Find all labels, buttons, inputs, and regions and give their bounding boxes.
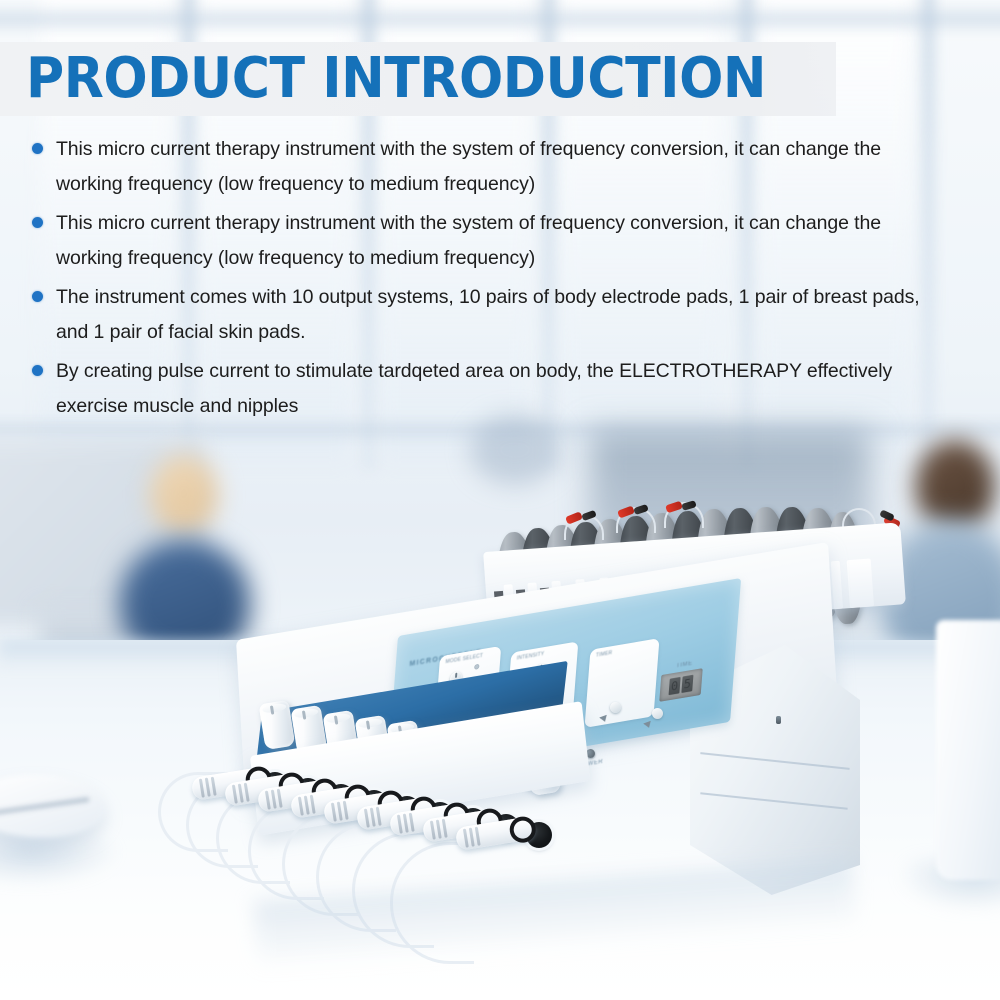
rack-tooth <box>831 561 843 610</box>
lcd-digit: 0 <box>669 677 681 695</box>
plug-grip-rib <box>337 802 342 821</box>
plug-grip-rib <box>211 777 216 796</box>
plug-grip-rib <box>376 807 381 826</box>
plug-grip-rib <box>244 783 249 802</box>
plug-grip-rib <box>232 785 237 804</box>
plug-grip-rib <box>430 821 435 840</box>
plug-grip-rib <box>364 809 369 828</box>
plug-grip-rib <box>436 820 441 839</box>
plug-grip-rib <box>277 789 282 808</box>
plug-grip-rib <box>463 829 468 848</box>
plug-grip-rib <box>265 791 270 810</box>
plug-grip-rib <box>343 801 348 820</box>
black-clip <box>879 509 895 521</box>
plug-grip-rib <box>442 819 447 838</box>
side-screw <box>776 716 781 724</box>
panel-section-label: TIMER <box>596 650 613 659</box>
decrease-button[interactable] <box>610 702 621 713</box>
plug-grip-rib <box>199 779 204 798</box>
panel-section-label: INTENSITY <box>516 651 544 662</box>
plug-grip-rib <box>238 784 243 803</box>
plug-grip-rib <box>397 815 402 834</box>
product-introduction-banner: PRODUCT INTRODUCTION This micro current … <box>0 0 1000 1000</box>
product-photo: MICROCURRENT MODE SELECT INTENSITY TIMER… <box>0 0 1000 1000</box>
increase-button[interactable] <box>652 708 663 719</box>
plug-grip-rib <box>370 808 375 827</box>
plug-grip-rib <box>403 814 408 833</box>
plug-grip-rib <box>298 797 303 816</box>
rack-tooth <box>847 559 874 609</box>
plug-grip-rib <box>304 796 309 815</box>
panel-section-timer[interactable]: TIMER <box>584 638 659 728</box>
plug-grip-rib <box>205 778 210 797</box>
plug-grip-rib <box>469 828 474 847</box>
plug-grip-rib <box>409 813 414 832</box>
plug-grip-rib <box>271 790 276 809</box>
plug-grip-rib <box>475 827 480 846</box>
indicator-dot-icon <box>474 664 479 670</box>
plug-grip-rib <box>331 803 336 822</box>
lcd-digit: 5 <box>681 675 693 693</box>
plug-grip-rib <box>310 795 315 814</box>
